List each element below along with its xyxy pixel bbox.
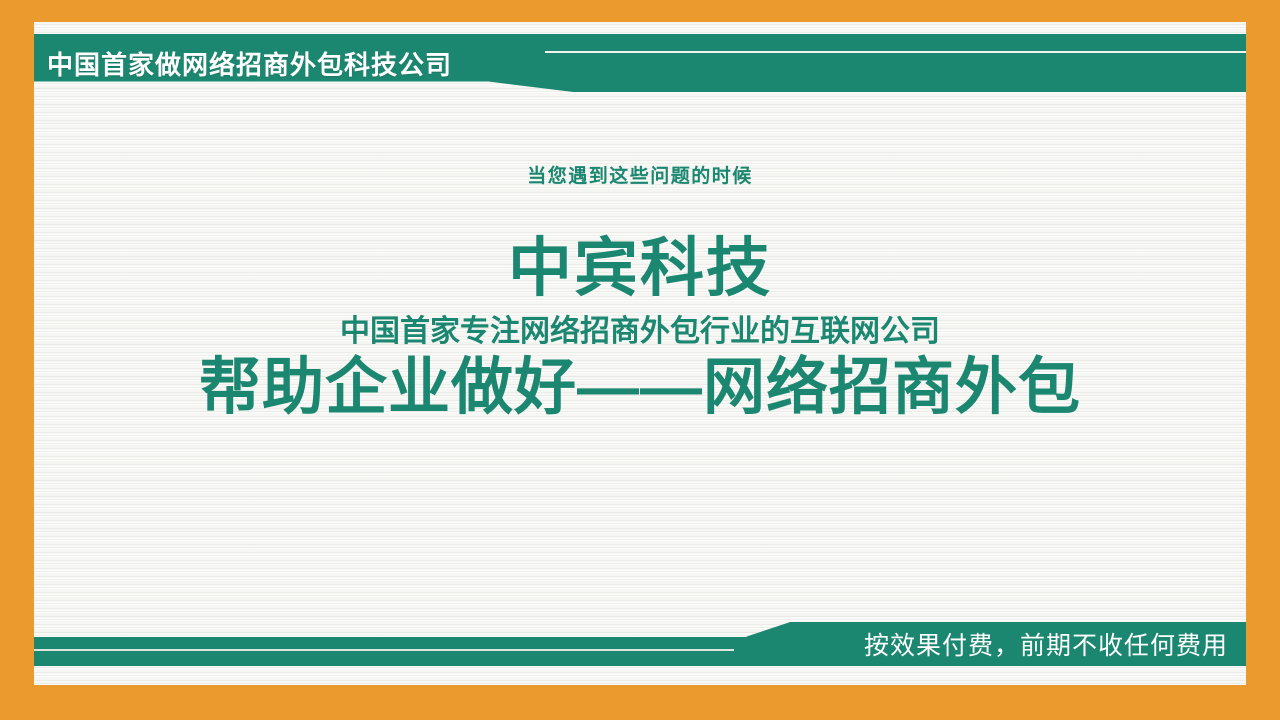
footer-hairline-divider xyxy=(34,649,734,651)
footer-text: 按效果付费，前期不收任何费用 xyxy=(864,622,1228,666)
eyebrow-text: 当您遇到这些问题的时候 xyxy=(527,161,753,188)
main-headline: 帮助企业做好——网络招商外包 xyxy=(199,352,1081,423)
brand-tagline: 中国首家专注网络招商外包行业的互联网公司 xyxy=(340,306,940,350)
brand-name: 中宾科技 xyxy=(508,235,772,302)
slide-content: 当您遇到这些问题的时候 中宾科技 中国首家专注网络招商外包行业的互联网公司 帮助… xyxy=(34,22,1246,685)
slide-canvas: 中国首家做网络招商外包科技公司 当您遇到这些问题的时候 中宾科技 中国首家专注网… xyxy=(0,0,1280,720)
slide-paper-panel: 中国首家做网络招商外包科技公司 当您遇到这些问题的时候 中宾科技 中国首家专注网… xyxy=(34,22,1246,685)
